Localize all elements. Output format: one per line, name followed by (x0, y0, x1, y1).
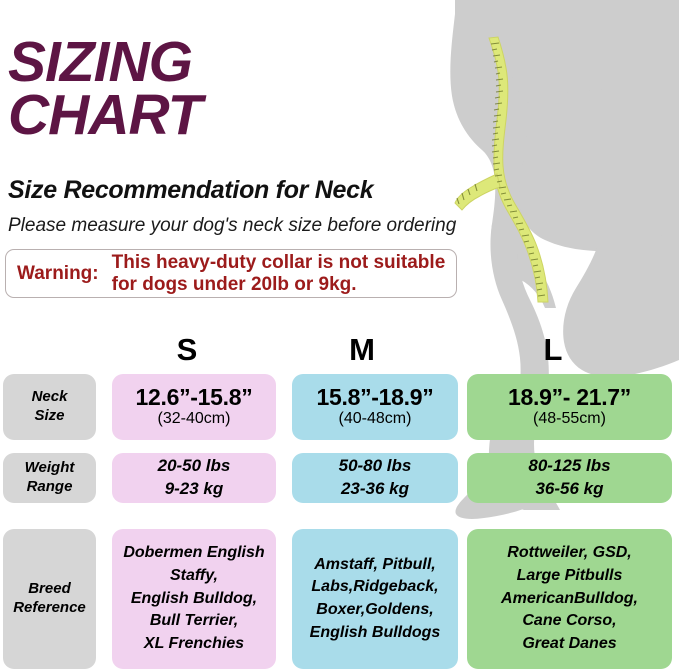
cell-breed-reference-s-text: Dobermen English Staffy, English Bulldog… (123, 542, 264, 656)
column-header-m: M (327, 332, 397, 368)
column-header-l: L (518, 332, 588, 368)
subtitle: Size Recommendation for Neck (8, 176, 373, 205)
page-title-line-1: SIZING (8, 36, 478, 89)
cell-weight-range-l-text: 80-125 lbs 36-56 kg (528, 455, 610, 501)
cell-weight-range-s-text: 20-50 lbs 9-23 kg (158, 455, 231, 501)
cell-breed-reference-l: Rottweiler, GSD, Large Pitbulls American… (467, 529, 672, 669)
cell-neck-size-m-sub: (40-48cm) (339, 409, 412, 429)
cell-breed-reference-l-text: Rottweiler, GSD, Large Pitbulls American… (501, 542, 638, 656)
instruction-text: Please measure your dog's neck size befo… (8, 215, 456, 237)
cell-neck-size-m: 15.8”-18.9” (40-48cm) (292, 374, 458, 440)
cell-neck-size-s-sub: (32-40cm) (158, 409, 231, 429)
page-title-line-2: CHART (8, 89, 478, 142)
row-header-breed-reference: Breed Reference (3, 529, 96, 669)
cell-weight-range-m: 50-80 lbs 23-36 kg (292, 453, 458, 503)
dog-silhouette-shape (450, 0, 679, 519)
row-header-weight-range: Weight Range (3, 453, 96, 503)
cell-breed-reference-m: Amstaff, Pitbull, Labs,Ridgeback, Boxer,… (292, 529, 458, 669)
column-header-s: S (152, 332, 222, 368)
warning-message: This heavy-duty collar is not suitable f… (99, 252, 446, 295)
cell-neck-size-s: 12.6”-15.8” (32-40cm) (112, 374, 276, 440)
cell-weight-range-l: 80-125 lbs 36-56 kg (467, 453, 672, 503)
cell-neck-size-m-main: 15.8”-18.9” (317, 385, 434, 409)
cell-neck-size-l-sub: (48-55cm) (533, 409, 606, 429)
row-header-neck-size: Neck Size (3, 374, 96, 440)
warning-label: Warning: (6, 263, 99, 285)
sizing-chart-page: SIZING CHART Size Recommendation for Nec… (0, 0, 679, 672)
cell-neck-size-s-main: 12.6”-15.8” (136, 385, 253, 409)
warning-box: Warning: This heavy-duty collar is not s… (5, 249, 457, 298)
cell-weight-range-s: 20-50 lbs 9-23 kg (112, 453, 276, 503)
cell-breed-reference-s: Dobermen English Staffy, English Bulldog… (112, 529, 276, 669)
cell-weight-range-m-text: 50-80 lbs 23-36 kg (339, 455, 412, 501)
cell-neck-size-l: 18.9”- 21.7” (48-55cm) (467, 374, 672, 440)
cell-breed-reference-m-text: Amstaff, Pitbull, Labs,Ridgeback, Boxer,… (310, 554, 441, 645)
page-title: SIZING CHART (8, 36, 478, 142)
cell-neck-size-l-main: 18.9”- 21.7” (508, 385, 631, 409)
